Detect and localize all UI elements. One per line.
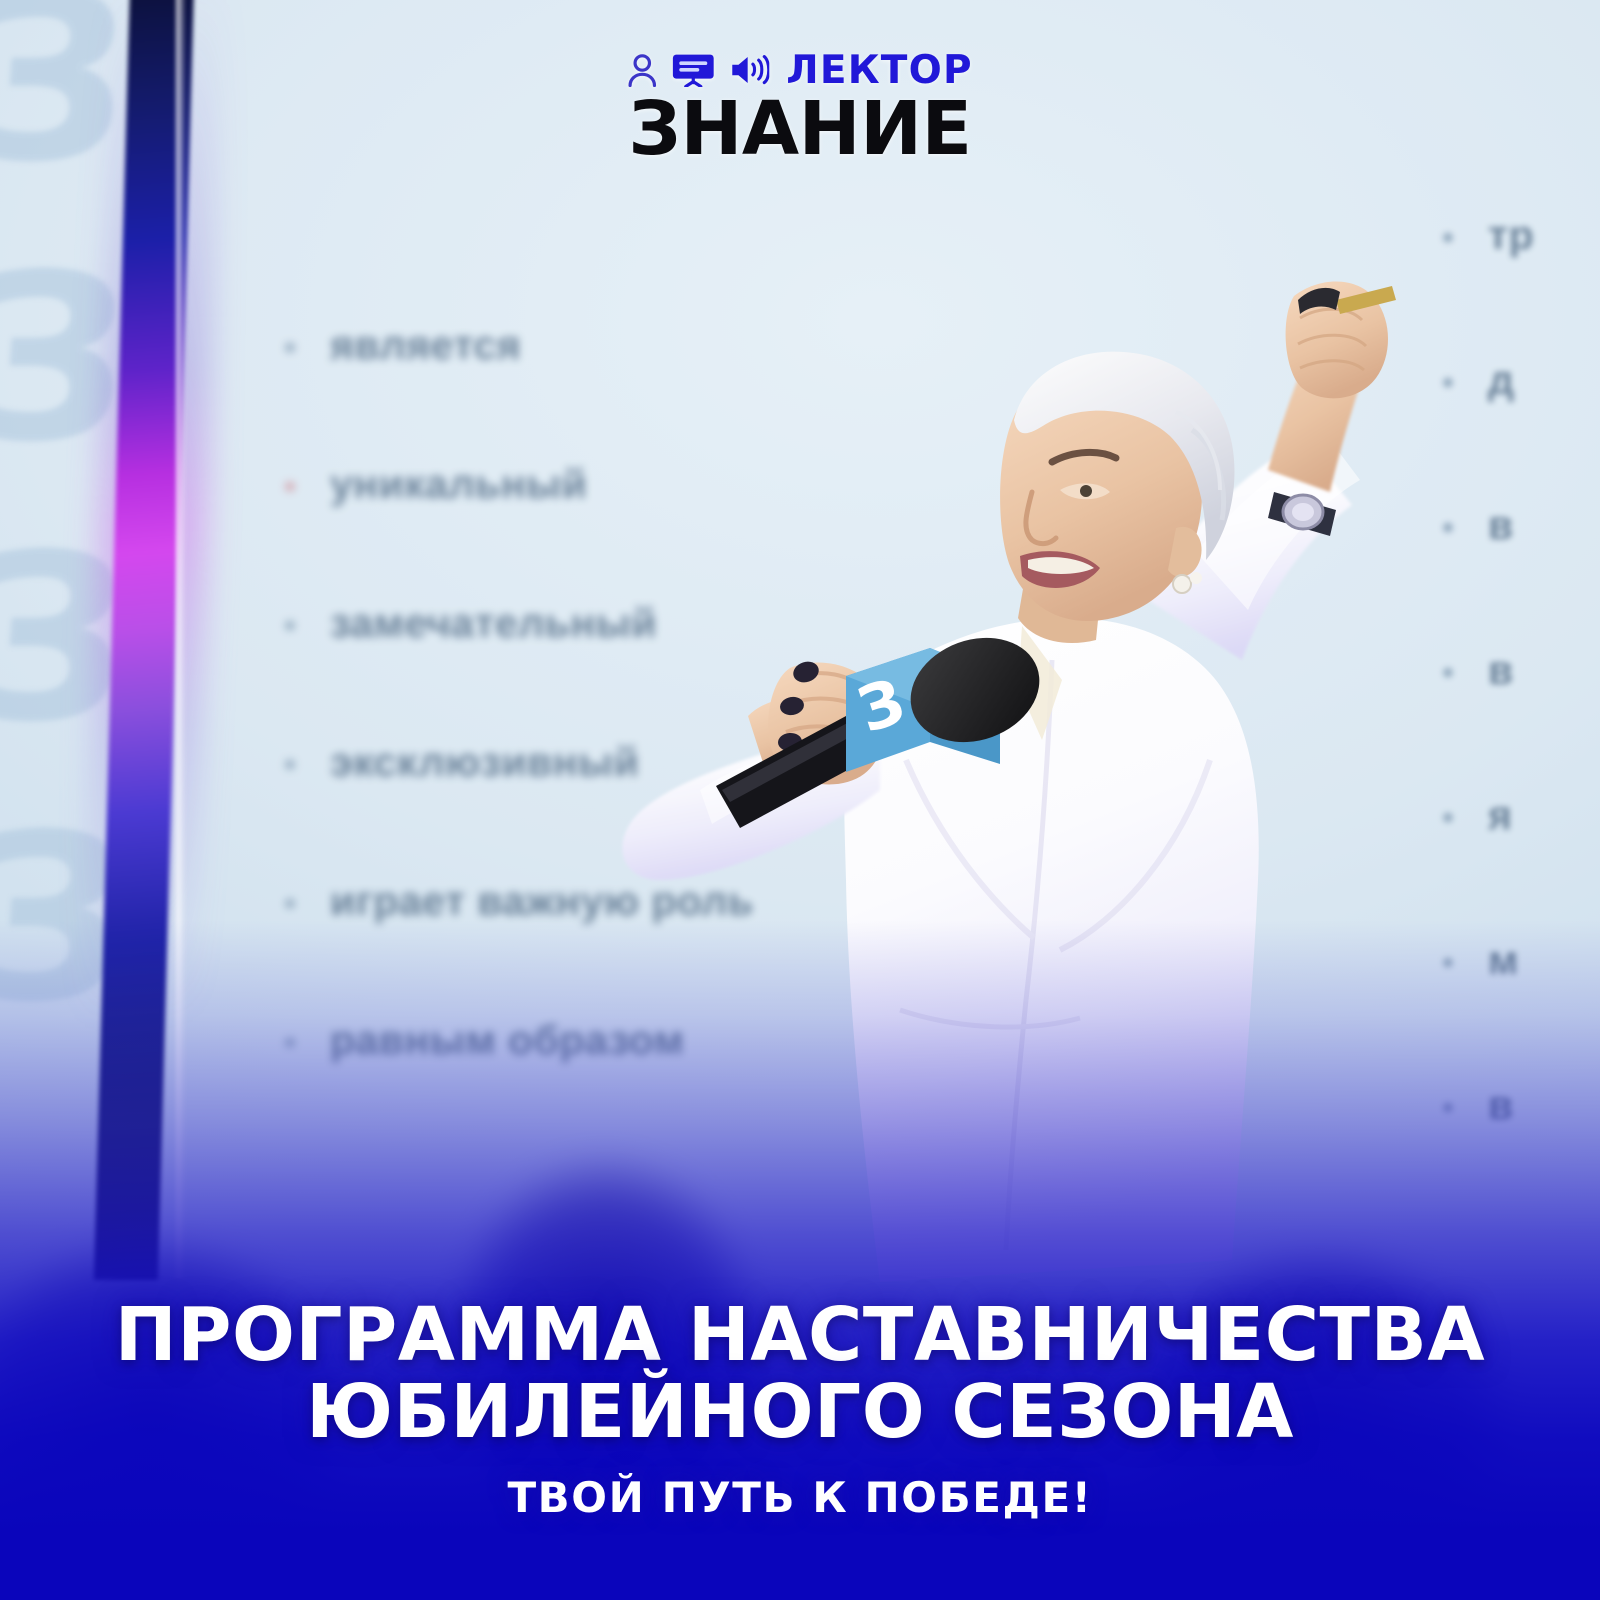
- title-line-2: ЮБИЛЕЙНОГО СЕЗОНА: [0, 1374, 1600, 1451]
- logo-icon-group: [627, 53, 769, 87]
- earring: [1190, 572, 1202, 584]
- title-line-1: ПРОГРАММА НАСТАВНИЧЕСТВА: [0, 1297, 1600, 1374]
- person-icon: [627, 53, 657, 87]
- earring: [1173, 575, 1191, 593]
- logo-znanie-word: ЗНАНИЕ: [627, 94, 972, 165]
- presentation-board-icon: [671, 53, 715, 87]
- speaker-sound-icon: [729, 53, 769, 87]
- znanie-lektor-logo: ЛЕКТОР ЗНАНИЕ: [627, 48, 972, 165]
- title-subtitle: ТВОЙ ПУТЬ К ПОБЕДЕ!: [0, 1473, 1600, 1522]
- logo-lektor-word: ЛЕКТОР: [786, 51, 972, 90]
- title-block: ПРОГРАММА НАСТАВНИЧЕСТВА ЮБИЛЕЙНОГО СЕЗО…: [0, 1297, 1600, 1522]
- poster-root: З З З З является уникальный замечательны…: [0, 0, 1600, 1600]
